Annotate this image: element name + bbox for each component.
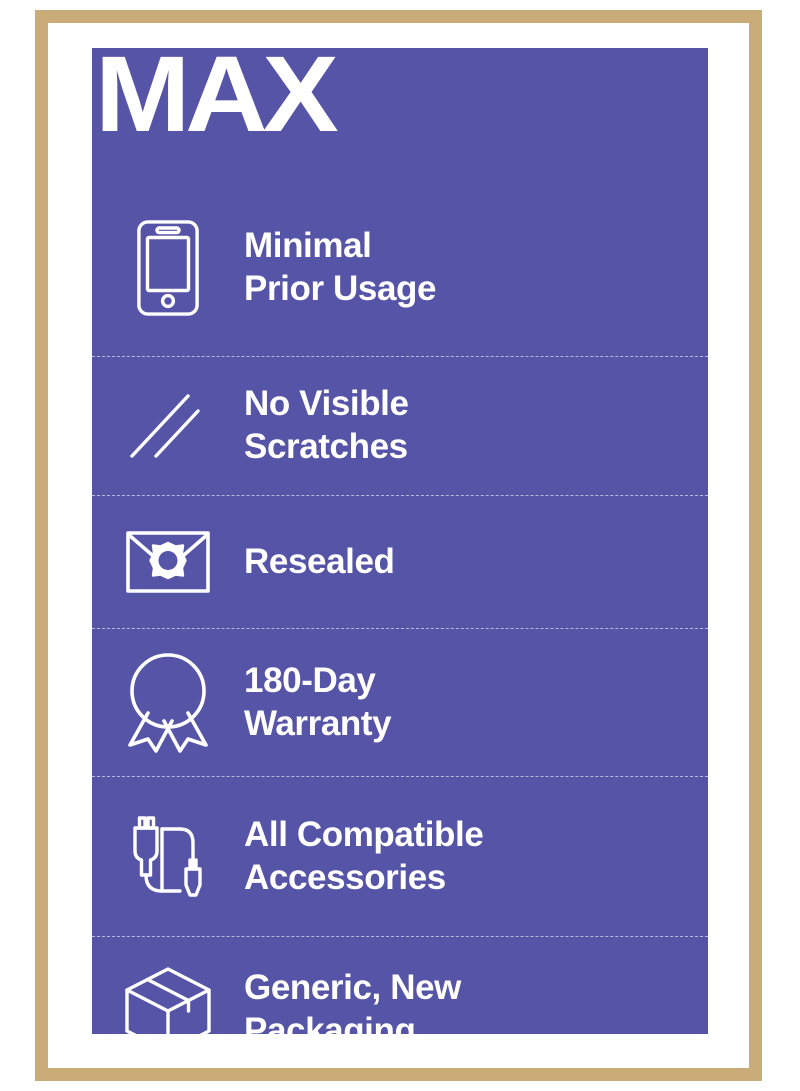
sealed-envelope-icon [92, 531, 244, 593]
package-box-icon [92, 964, 244, 1035]
feature-row: All Compatible Accessories [92, 776, 708, 936]
feature-row: Minimal Prior Usage [92, 180, 708, 356]
feature-row: Resealed [92, 495, 708, 628]
feature-label: Resealed [244, 541, 708, 584]
feature-label: All Compatible Accessories [244, 814, 708, 899]
feature-label: 180-Day Warranty [244, 660, 708, 745]
feature-label: Generic, New Packaging [244, 967, 708, 1034]
feature-label: Minimal Prior Usage [244, 225, 708, 310]
usb-cable-icon [92, 811, 244, 903]
feature-row: Generic, New Packaging [92, 936, 708, 1034]
feature-row: No Visible Scratches [92, 356, 708, 495]
scratch-lines-icon [92, 390, 244, 462]
award-ribbon-icon [92, 651, 244, 755]
feature-list: Minimal Prior Usage No Visible Scratches [92, 180, 708, 1034]
feature-label: No Visible Scratches [244, 383, 708, 468]
infographic-canvas: MAX Minimal Prior Usage [0, 0, 800, 1091]
smartphone-icon [92, 220, 244, 316]
feature-row: 180-Day Warranty [92, 628, 708, 776]
brand-wordmark: MAX [95, 48, 334, 148]
purple-feature-panel: MAX Minimal Prior Usage [92, 48, 708, 1034]
